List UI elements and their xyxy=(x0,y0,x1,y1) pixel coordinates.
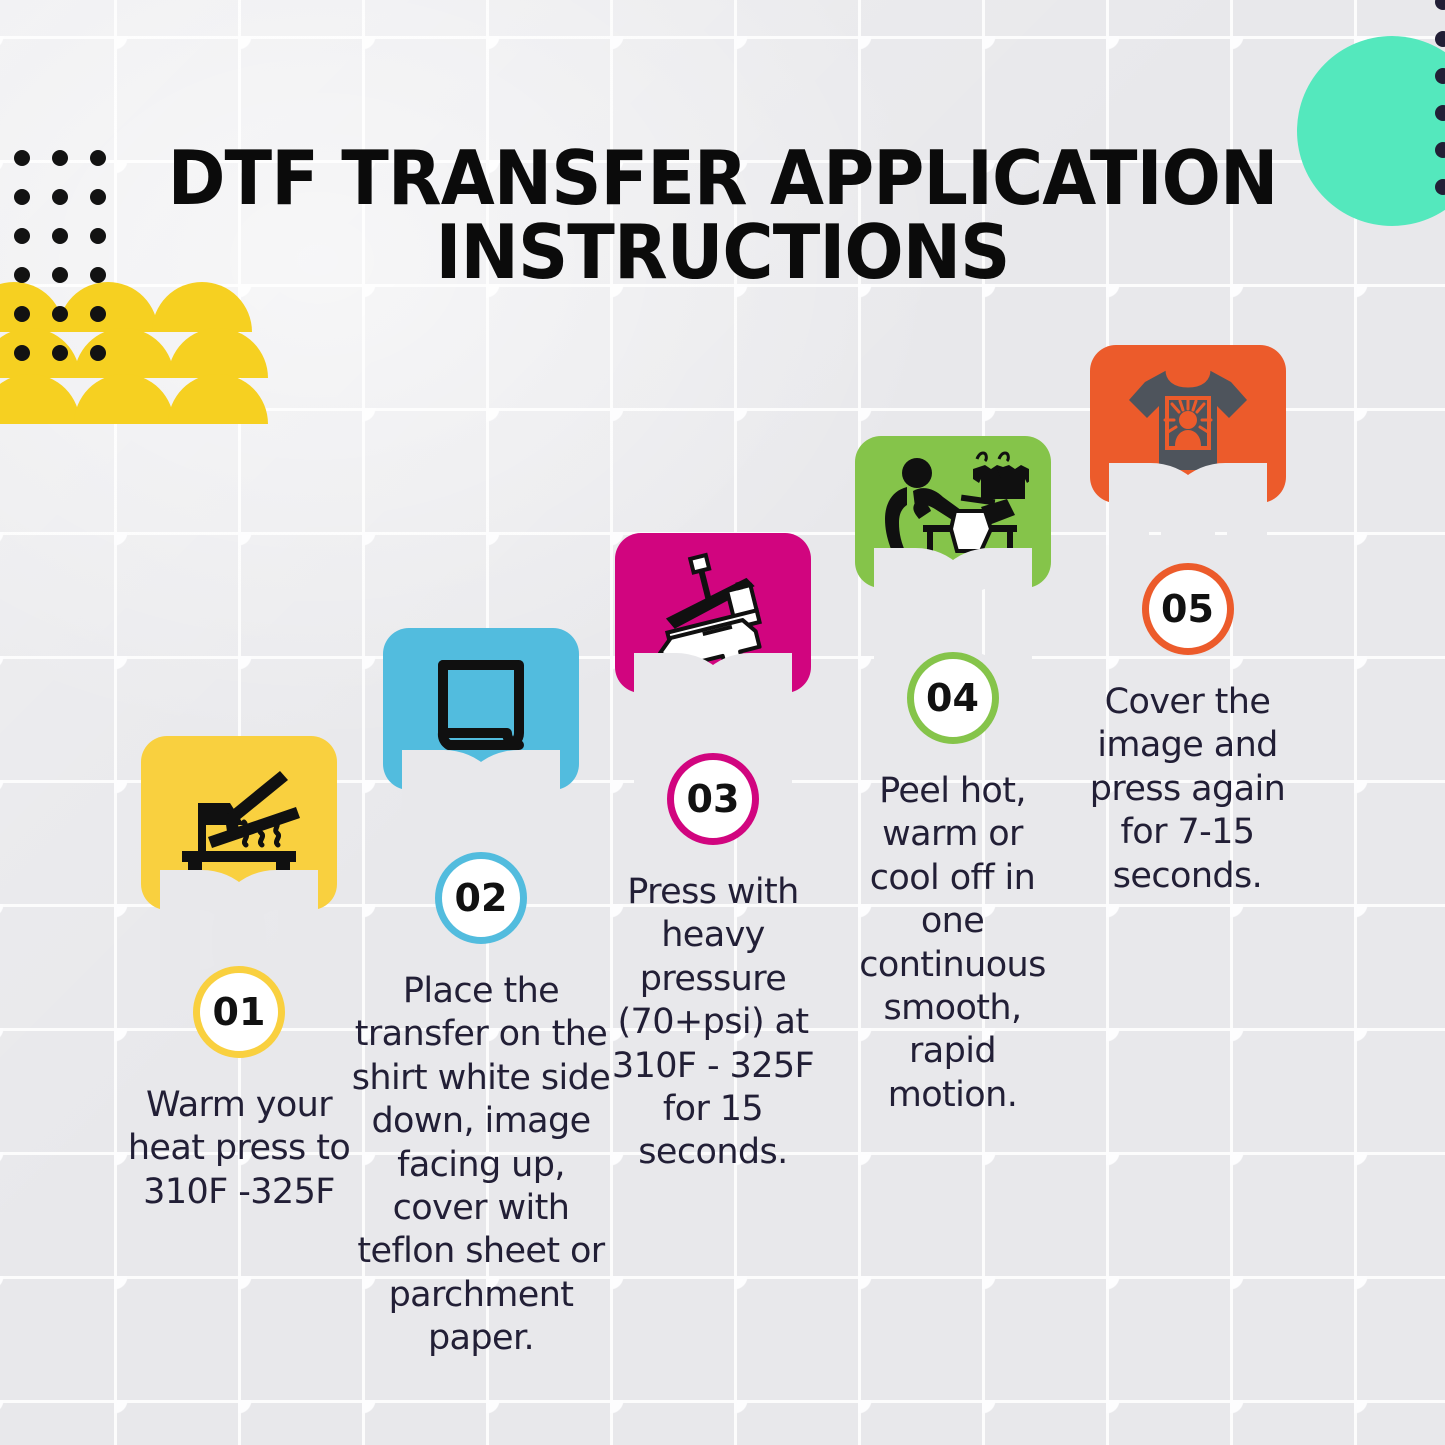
decorative-dot xyxy=(14,267,30,283)
step-05-number: 05 xyxy=(1161,587,1214,631)
step-01-caption: Warm your heat press to 310F -325F xyxy=(113,1084,365,1214)
step-02-number-pin: 02 xyxy=(435,852,527,944)
decorative-dot xyxy=(90,267,106,283)
decorative-dot xyxy=(52,150,68,166)
step-03-number-pin: 03 xyxy=(667,753,759,845)
step-05-caption: Cover the image and press again for 7-15… xyxy=(1085,681,1290,898)
step-item-03[interactable]: #step-3 .neck:before,#step-3 .neck:after… xyxy=(598,533,828,1175)
step-02-number: 02 xyxy=(455,876,508,920)
decorative-dot xyxy=(90,228,106,244)
step-04-connector: #step-4 .neck:before,#step-4 .neck:after… xyxy=(918,588,988,656)
step-04-caption: Peel hot, warm or cool off in one contin… xyxy=(845,770,1060,1117)
decorative-dot xyxy=(90,345,106,361)
transfer-sheet-icon xyxy=(421,653,541,765)
step-01-number: 01 xyxy=(213,990,266,1034)
heat-press-icon xyxy=(164,767,314,879)
decorative-dot xyxy=(52,345,68,361)
decorative-dot xyxy=(90,150,106,166)
decorative-dot xyxy=(14,228,30,244)
decorative-dot xyxy=(52,306,68,322)
step-item-05[interactable]: #step-5 .neck:before,#step-5 .neck:after… xyxy=(1085,345,1290,898)
decorative-dot xyxy=(90,189,106,205)
step-05-connector: #step-5 .neck:before,#step-5 .neck:after… xyxy=(1153,503,1223,567)
step-04-number: 04 xyxy=(926,676,979,720)
steps-container: #step-1 .neck:before,#step-1 .neck:after… xyxy=(0,0,1445,1445)
step-04-icon-card xyxy=(855,436,1051,588)
decorative-dot xyxy=(52,267,68,283)
step-01-number-pin: 01 xyxy=(193,966,285,1058)
step-01-icon-card xyxy=(141,736,337,910)
step-04-number-pin: 04 xyxy=(907,652,999,744)
printed-tshirt-icon xyxy=(1123,362,1253,486)
step-item-04[interactable]: #step-4 .neck:before,#step-4 .neck:after… xyxy=(845,436,1060,1117)
heat-press-machine-icon xyxy=(646,551,780,675)
decorative-dot xyxy=(14,150,30,166)
step-01-connector: #step-1 .neck:before,#step-1 .neck:after… xyxy=(204,910,274,970)
decorative-dot xyxy=(14,189,30,205)
step-02-icon-card xyxy=(383,628,579,790)
step-item-01[interactable]: #step-1 .neck:before,#step-1 .neck:after… xyxy=(113,736,365,1214)
step-03-icon-card xyxy=(615,533,811,693)
step-05-icon-card xyxy=(1090,345,1286,503)
person-pressing-shirt-icon xyxy=(877,451,1029,573)
step-02-connector: #step-2 .neck:before,#step-2 .neck:after… xyxy=(446,790,516,856)
decorative-dot xyxy=(52,228,68,244)
step-02-caption: Place the transfer on the shirt white si… xyxy=(350,970,612,1361)
decorative-dot xyxy=(14,306,30,322)
step-03-caption: Press with heavy pressure (70+psi) at 31… xyxy=(598,871,828,1175)
decorative-dot xyxy=(90,306,106,322)
step-item-02[interactable]: #step-2 .neck:before,#step-2 .neck:after… xyxy=(350,628,612,1361)
step-05-number-pin: 05 xyxy=(1142,563,1234,655)
step-03-connector: #step-3 .neck:before,#step-3 .neck:after… xyxy=(678,693,748,757)
decorative-dot xyxy=(52,189,68,205)
decorative-dot xyxy=(14,345,30,361)
step-03-number: 03 xyxy=(687,777,740,821)
